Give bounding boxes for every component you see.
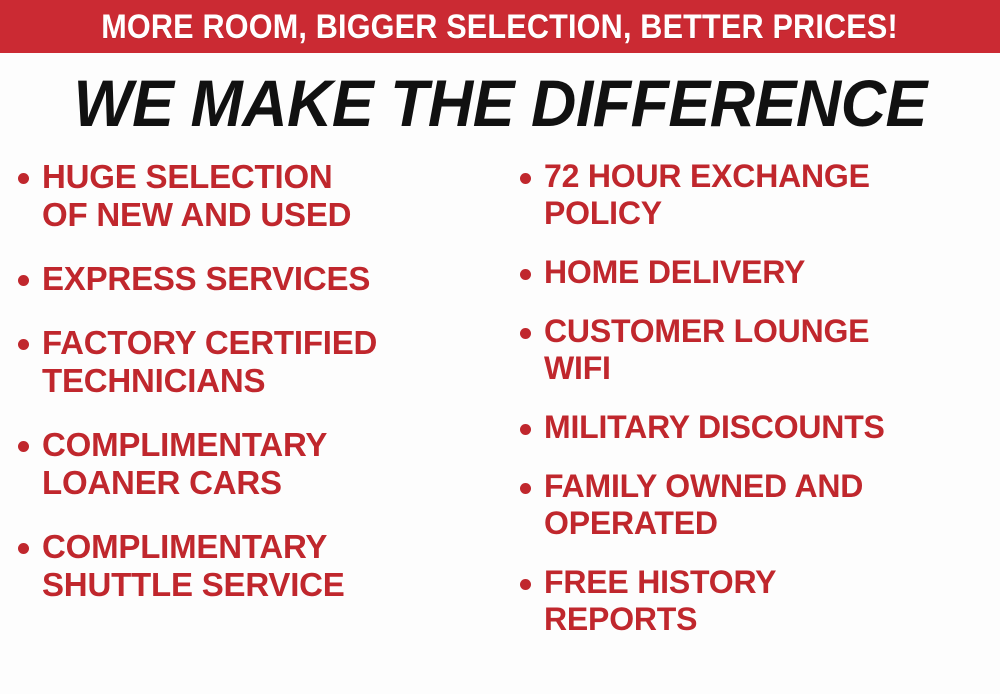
benefits-columns: HUGE SELECTION OF NEW AND USED EXPRESS S… bbox=[0, 158, 1000, 678]
list-item-label: HOME DELIVERY bbox=[544, 254, 805, 291]
benefits-column-right: 72 HOUR EXCHANGE POLICY HOME DELIVERY CU… bbox=[500, 158, 1000, 660]
list-item-label: MILITARY DISCOUNTS bbox=[544, 409, 885, 446]
list-item-label: EXPRESS SERVICES bbox=[42, 260, 370, 298]
bullet-dot-icon bbox=[18, 441, 29, 452]
list-item-label: 72 HOUR EXCHANGE POLICY bbox=[544, 158, 870, 232]
bullet-dot-icon bbox=[520, 579, 531, 590]
list-item-label: FACTORY CERTIFIED TECHNICIANS bbox=[42, 324, 377, 400]
bullet-dot-icon bbox=[520, 328, 531, 339]
bullet-dot-icon bbox=[18, 173, 29, 184]
list-item: 72 HOUR EXCHANGE POLICY bbox=[520, 158, 1000, 232]
list-item-label: CUSTOMER LOUNGE WIFI bbox=[544, 313, 869, 387]
bullet-dot-icon bbox=[18, 275, 29, 286]
list-item: HUGE SELECTION OF NEW AND USED bbox=[18, 158, 500, 234]
list-item: FACTORY CERTIFIED TECHNICIANS bbox=[18, 324, 500, 400]
bullet-dot-icon bbox=[520, 424, 531, 435]
list-item-label: FREE HISTORY REPORTS bbox=[544, 564, 776, 638]
bullet-dot-icon bbox=[520, 483, 531, 494]
headline-text: WE MAKE THE DIFFERENCE bbox=[73, 70, 926, 136]
benefits-column-left: HUGE SELECTION OF NEW AND USED EXPRESS S… bbox=[0, 158, 500, 630]
list-item-label: FAMILY OWNED AND OPERATED bbox=[544, 468, 863, 542]
promo-banner-text: MORE ROOM, BIGGER SELECTION, BETTER PRIC… bbox=[102, 10, 899, 44]
bullet-dot-icon bbox=[520, 173, 531, 184]
list-item: EXPRESS SERVICES bbox=[18, 260, 500, 298]
list-item-label: COMPLIMENTARY SHUTTLE SERVICE bbox=[42, 528, 345, 604]
list-item: MILITARY DISCOUNTS bbox=[520, 409, 1000, 446]
bullet-dot-icon bbox=[18, 339, 29, 350]
list-item: COMPLIMENTARY SHUTTLE SERVICE bbox=[18, 528, 500, 604]
list-item: COMPLIMENTARY LOANER CARS bbox=[18, 426, 500, 502]
list-item: HOME DELIVERY bbox=[520, 254, 1000, 291]
bullet-dot-icon bbox=[18, 543, 29, 554]
list-item: CUSTOMER LOUNGE WIFI bbox=[520, 313, 1000, 387]
list-item: FAMILY OWNED AND OPERATED bbox=[520, 468, 1000, 542]
list-item: FREE HISTORY REPORTS bbox=[520, 564, 1000, 638]
list-item-label: COMPLIMENTARY LOANER CARS bbox=[42, 426, 327, 502]
promo-banner: MORE ROOM, BIGGER SELECTION, BETTER PRIC… bbox=[0, 0, 1000, 53]
bullet-dot-icon bbox=[520, 269, 531, 280]
list-item-label: HUGE SELECTION OF NEW AND USED bbox=[42, 158, 351, 234]
headline: WE MAKE THE DIFFERENCE bbox=[0, 70, 1000, 136]
